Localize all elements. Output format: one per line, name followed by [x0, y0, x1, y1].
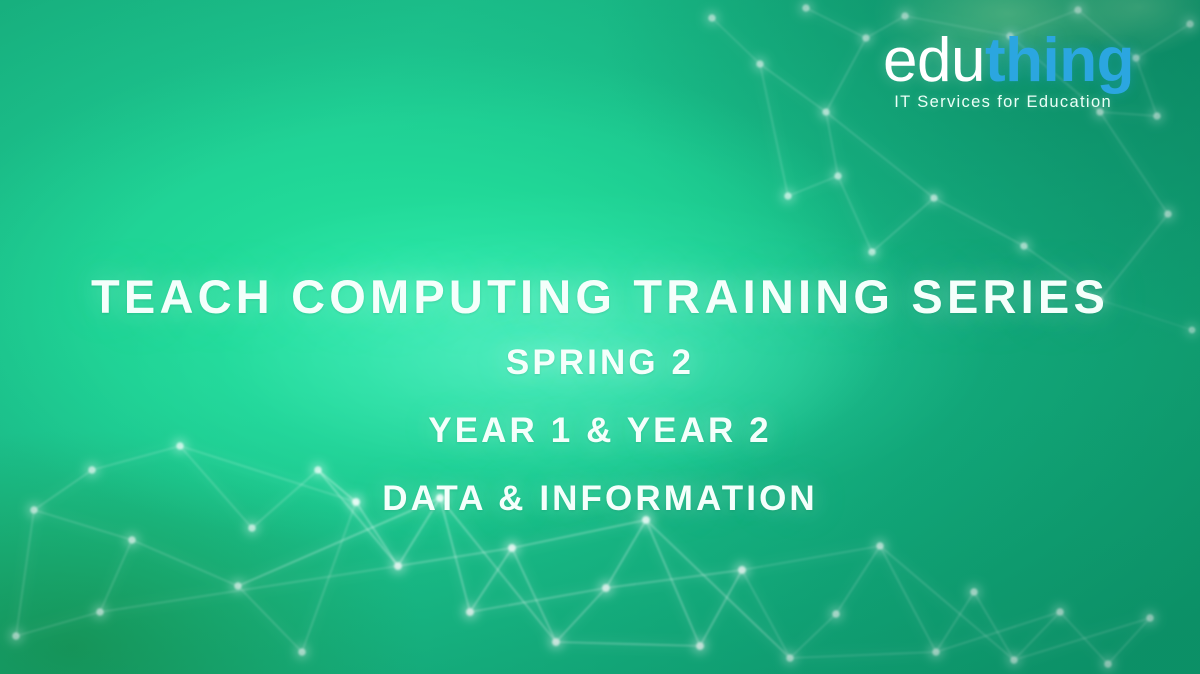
logo-tagline: IT Services for Education [883, 94, 1112, 111]
logo-wordmark: eduthing [883, 34, 1134, 87]
subtitle-line-topic: DATA & INFORMATION [0, 472, 1200, 526]
page-title: TEACH COMPUTING TRAINING SERIES [0, 272, 1200, 322]
logo-word-edu: edu [883, 26, 985, 95]
headline-block: TEACH COMPUTING TRAINING SERIES SPRING 2… [0, 272, 1200, 525]
logo-word-thing: thing [985, 26, 1134, 95]
title-slide: eduthing IT Services for Education TEACH… [0, 0, 1200, 674]
eduthing-logo[interactable]: eduthing IT Services for Education [883, 34, 1134, 111]
subtitle-line-years: YEAR 1 & YEAR 2 [0, 404, 1200, 458]
subtitle-line-term: SPRING 2 [0, 336, 1200, 390]
